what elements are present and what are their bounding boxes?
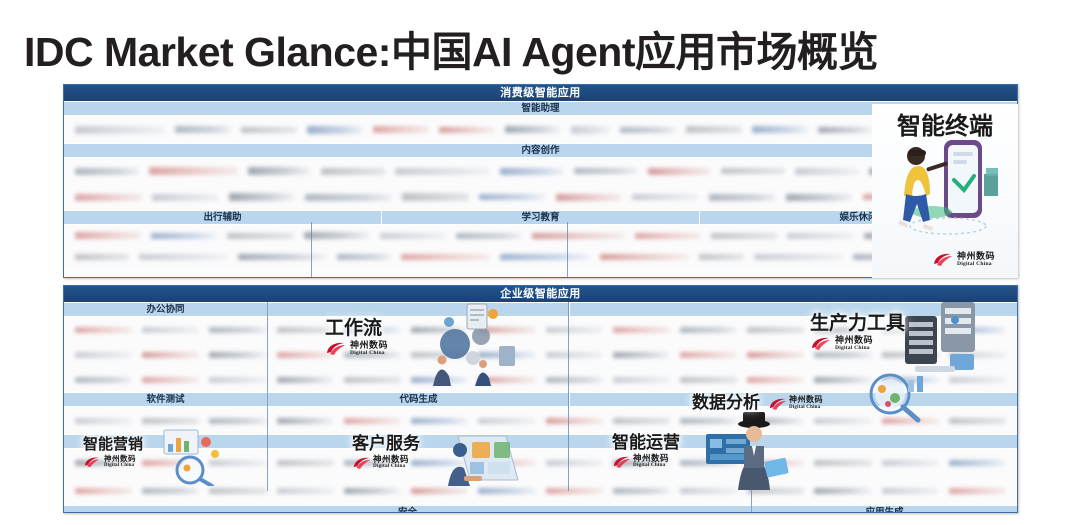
logo-row xyxy=(64,317,1017,342)
digital-china-mark-icon xyxy=(932,252,954,267)
page-title: IDC Market Glance:中国AI Agent应用市场概览 xyxy=(24,18,878,78)
hero-smart-terminal-title: 智能终端 xyxy=(897,106,993,141)
column-header-education: 学习教育 xyxy=(382,211,700,224)
column-header-row2-right xyxy=(570,393,1017,406)
brand-name-en: Digital China xyxy=(957,262,995,268)
column-divider xyxy=(311,222,312,278)
logo-row xyxy=(64,449,1017,477)
digital-china-logo: 神州数码 Digital China xyxy=(932,252,995,268)
column-header-code-generation: 代码生成 xyxy=(268,393,570,406)
column-divider xyxy=(267,302,268,491)
enterprise-header: 企业级智能应用 xyxy=(64,286,1017,302)
column-header-app-generation: 应用生成 xyxy=(752,506,1017,513)
column-header-row1-right xyxy=(570,303,1017,316)
column-divider xyxy=(568,302,569,491)
smart-terminal-illustration xyxy=(886,134,1006,240)
brand-name-cn: 神州数码 xyxy=(957,252,995,261)
logo-row xyxy=(64,477,1017,505)
enterprise-bottom-headers: 安全 应用生成 xyxy=(64,505,1017,513)
column-divider xyxy=(567,222,568,278)
column-header-travel: 出行辅助 xyxy=(64,211,382,224)
enterprise-applications-block: 企业级智能应用 办公协同 软件测试 代码生成 xyxy=(63,285,1018,513)
column-header-security: 安全 xyxy=(64,506,752,513)
logo-row xyxy=(64,407,1017,434)
enterprise-row2-headers: 软件测试 代码生成 xyxy=(64,392,1017,407)
digital-china-wordmark: 神州数码 Digital China xyxy=(957,252,995,268)
consumer-header: 消费级智能应用 xyxy=(64,85,1017,101)
column-header-office-collaboration: 办公协同 xyxy=(64,303,268,316)
enterprise-row1-headers: 办公协同 xyxy=(64,302,1017,317)
column-header-row3-spacer xyxy=(64,435,1017,448)
hero-panel-smart-terminal: 智能终端 xyxy=(872,104,1018,278)
enterprise-row3-spacer xyxy=(64,434,1017,449)
logo-row xyxy=(64,367,1017,392)
column-header-software-testing: 软件测试 xyxy=(64,393,268,406)
column-header-row1-middle xyxy=(268,303,570,316)
column-divider xyxy=(751,478,752,513)
logo-row xyxy=(64,342,1017,367)
